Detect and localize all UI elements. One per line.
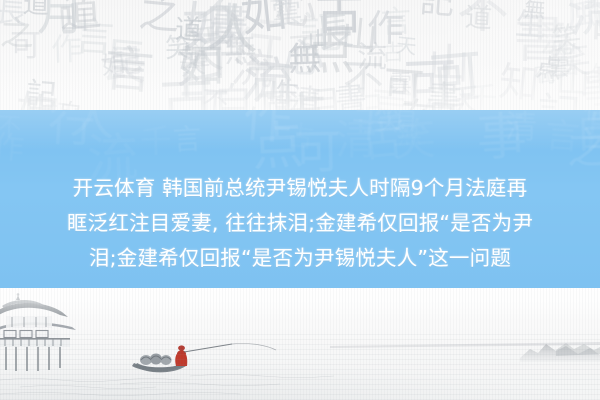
calligraphy-glyph: 長 bbox=[312, 13, 355, 56]
calligraphy-glyph: 無 bbox=[224, 33, 258, 67]
calligraphy-glyph: 無 bbox=[523, 0, 546, 23]
calligraphy-glyph: 道 bbox=[175, 17, 203, 45]
ink-wash-landscape-bottom bbox=[0, 288, 600, 400]
headline-line-3: 泪;金建希仅回报“是否为尹锡悦夫人”这一问题 bbox=[89, 241, 511, 276]
calligraphy-glyph: 古 bbox=[382, 43, 405, 66]
calligraphy-glyph: 記 bbox=[419, 0, 456, 21]
calligraphy-glyph: 山 bbox=[57, 3, 90, 36]
calligraphy-glyph: 道 bbox=[185, 44, 212, 71]
landscape-scene bbox=[0, 288, 600, 400]
banner-image: 不心書在行可笑如記流無雲自可記生言笑人天言記長生如記如記書天生雲心点心可可長千言… bbox=[0, 0, 600, 400]
calligraphy-background-top: 不心書在行可笑如記流無雲自可記生言笑人天言記長生如記如記書天生雲心点心可可長千言… bbox=[0, 0, 600, 118]
water-texture bbox=[0, 334, 600, 400]
calligraphy-glyph: 不 bbox=[456, 0, 509, 37]
headline-line-1: 开云体育 韩国前总统尹锡悦夫人时隔9个月法庭再 bbox=[73, 171, 528, 206]
cursive-calligraphy-glyphs: 不心書在行可笑如記流無雲自可記生言笑人天言記長生如記如記書天生雲心点心可可長千言… bbox=[0, 0, 600, 118]
calligraphy-glyph: 知 bbox=[497, 62, 541, 106]
headline-banner-band: 自古可人千生之言言清無古清作行在事自自作笑笑点千流不 开云体育 韩国前总统尹锡悦… bbox=[0, 110, 600, 288]
calligraphy-glyph: 作 bbox=[51, 35, 83, 67]
headline-text-block: 开云体育 韩国前总统尹锡悦夫人时隔9个月法庭再 眶泛红注目爱妻, 往往抹泪;金建… bbox=[0, 110, 600, 288]
calligraphy-glyph: 雲 bbox=[268, 0, 294, 10]
calligraphy-glyph: 之 bbox=[0, 17, 34, 52]
headline-line-2: 眶泛红注目爱妻, 往往抹泪;金建希仅回报“是否为尹 bbox=[67, 206, 533, 241]
calligraphy-glyph: 書 bbox=[545, 42, 584, 81]
calligraphy-glyph: 長 bbox=[98, 37, 150, 89]
calligraphy-glyph: 流 bbox=[565, 0, 600, 41]
